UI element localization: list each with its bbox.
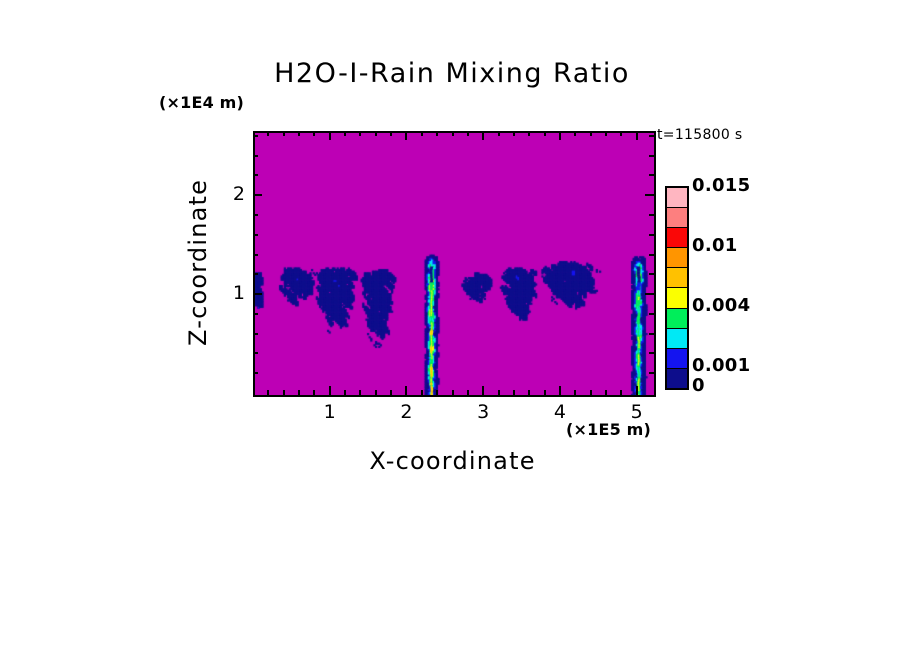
colorbar-band (667, 329, 687, 349)
x-major-tick (636, 386, 638, 395)
x-ticklabel: 3 (468, 401, 498, 423)
x-minor-tick-top (344, 131, 346, 136)
y-minor-tick-right (649, 313, 654, 315)
x-ticklabel: 5 (622, 401, 652, 423)
x-minor-tick (390, 390, 392, 395)
x-minor-tick (283, 390, 285, 395)
colorbar-band (667, 309, 687, 329)
x-minor-tick-top (298, 131, 300, 136)
x-minor-tick (436, 390, 438, 395)
x-minor-tick (605, 390, 607, 395)
x-minor-tick-top (267, 131, 269, 136)
y-minor-tick (253, 372, 258, 374)
x-major-tick (482, 386, 484, 395)
y-minor-tick (253, 214, 258, 216)
x-minor-tick (452, 390, 454, 395)
x-minor-tick (298, 390, 300, 395)
y-minor-tick-right (649, 155, 654, 157)
x-minor-tick (421, 390, 423, 395)
x-major-tick-top (405, 131, 407, 140)
x-minor-tick (313, 390, 315, 395)
colorbar-ticklabel: 0 (692, 375, 705, 396)
x-minor-tick-top (467, 131, 469, 136)
colorbar-band (667, 349, 687, 369)
x-minor-tick-top (313, 131, 315, 136)
x-minor-tick-top (590, 131, 592, 136)
x-major-tick (559, 386, 561, 395)
y-axis-unit-label: (×1E4 m) (159, 93, 244, 112)
y-minor-tick (253, 352, 258, 354)
x-ticklabel: 1 (315, 401, 345, 423)
x-minor-tick (574, 390, 576, 395)
y-minor-tick (253, 254, 258, 256)
x-minor-tick-top (574, 131, 576, 136)
x-minor-tick (528, 390, 530, 395)
y-major-tick-right (645, 293, 654, 295)
time-annotation: t=115800 s (657, 127, 742, 143)
x-major-tick-top (482, 131, 484, 140)
colorbar-band (667, 188, 687, 208)
x-minor-tick-top (390, 131, 392, 136)
y-ticklabel: 1 (219, 282, 245, 304)
x-minor-tick-top (436, 131, 438, 136)
plot-area (253, 131, 656, 397)
y-minor-tick (253, 174, 258, 176)
x-minor-tick-top (452, 131, 454, 136)
x-ticklabel: 2 (391, 401, 421, 423)
x-minor-tick-top (375, 131, 377, 136)
x-minor-tick-top (421, 131, 423, 136)
x-minor-tick (344, 390, 346, 395)
x-major-tick-top (559, 131, 561, 140)
x-minor-tick-top (498, 131, 500, 136)
y-minor-tick (253, 234, 258, 236)
x-ticklabel: 4 (545, 401, 575, 423)
y-minor-tick-right (649, 333, 654, 335)
x-minor-tick-top (513, 131, 515, 136)
colorbar-ticklabel: 0.015 (692, 175, 750, 196)
x-minor-tick (590, 390, 592, 395)
x-major-tick (405, 386, 407, 395)
colorbar-band (667, 208, 687, 228)
y-major-tick (253, 293, 262, 295)
y-minor-tick (253, 155, 258, 157)
y-minor-tick-right (649, 352, 654, 354)
colorbar-ticklabel: 0.001 (692, 355, 750, 376)
x-minor-tick (513, 390, 515, 395)
y-minor-tick-right (649, 273, 654, 275)
colorbar-ticklabel: 0.01 (692, 235, 738, 256)
x-major-tick-top (636, 131, 638, 140)
x-minor-tick-top (283, 131, 285, 136)
colorbar-band (667, 248, 687, 268)
x-major-tick (329, 386, 331, 395)
colorbar-band (667, 228, 687, 248)
y-minor-tick-right (649, 135, 654, 137)
y-ticklabel: 2 (219, 183, 245, 205)
y-axis-title: Z-coordinate (183, 155, 213, 370)
x-minor-tick-top (620, 131, 622, 136)
x-minor-tick (267, 390, 269, 395)
y-major-tick (253, 194, 262, 196)
y-minor-tick-right (649, 254, 654, 256)
x-axis-title: X-coordinate (253, 447, 652, 475)
colorbar-ticklabel: 0.004 (692, 295, 750, 316)
rain-mixing-ratio-heatmap (255, 133, 654, 395)
y-minor-tick-right (649, 234, 654, 236)
x-minor-tick-top (528, 131, 530, 136)
colorbar-band (667, 288, 687, 308)
y-minor-tick (253, 273, 258, 275)
colorbar-band (667, 268, 687, 288)
y-minor-tick (253, 313, 258, 315)
y-minor-tick-right (649, 214, 654, 216)
y-minor-tick (253, 333, 258, 335)
x-minor-tick (359, 390, 361, 395)
x-minor-tick (375, 390, 377, 395)
y-minor-tick (253, 135, 258, 137)
x-minor-tick (620, 390, 622, 395)
y-major-tick-right (645, 194, 654, 196)
x-minor-tick-top (605, 131, 607, 136)
colorbar-band (667, 369, 687, 388)
page-title: H2O-I-Rain Mixing Ratio (0, 58, 904, 89)
x-minor-tick (467, 390, 469, 395)
y-minor-tick-right (649, 372, 654, 374)
x-major-tick-top (329, 131, 331, 140)
x-minor-tick (544, 390, 546, 395)
x-minor-tick (498, 390, 500, 395)
x-minor-tick-top (544, 131, 546, 136)
y-minor-tick-right (649, 174, 654, 176)
x-minor-tick-top (359, 131, 361, 136)
figure-canvas: H2O-I-Rain Mixing Ratio (×1E4 m) (×1E5 m… (0, 0, 904, 654)
colorbar (665, 186, 689, 390)
